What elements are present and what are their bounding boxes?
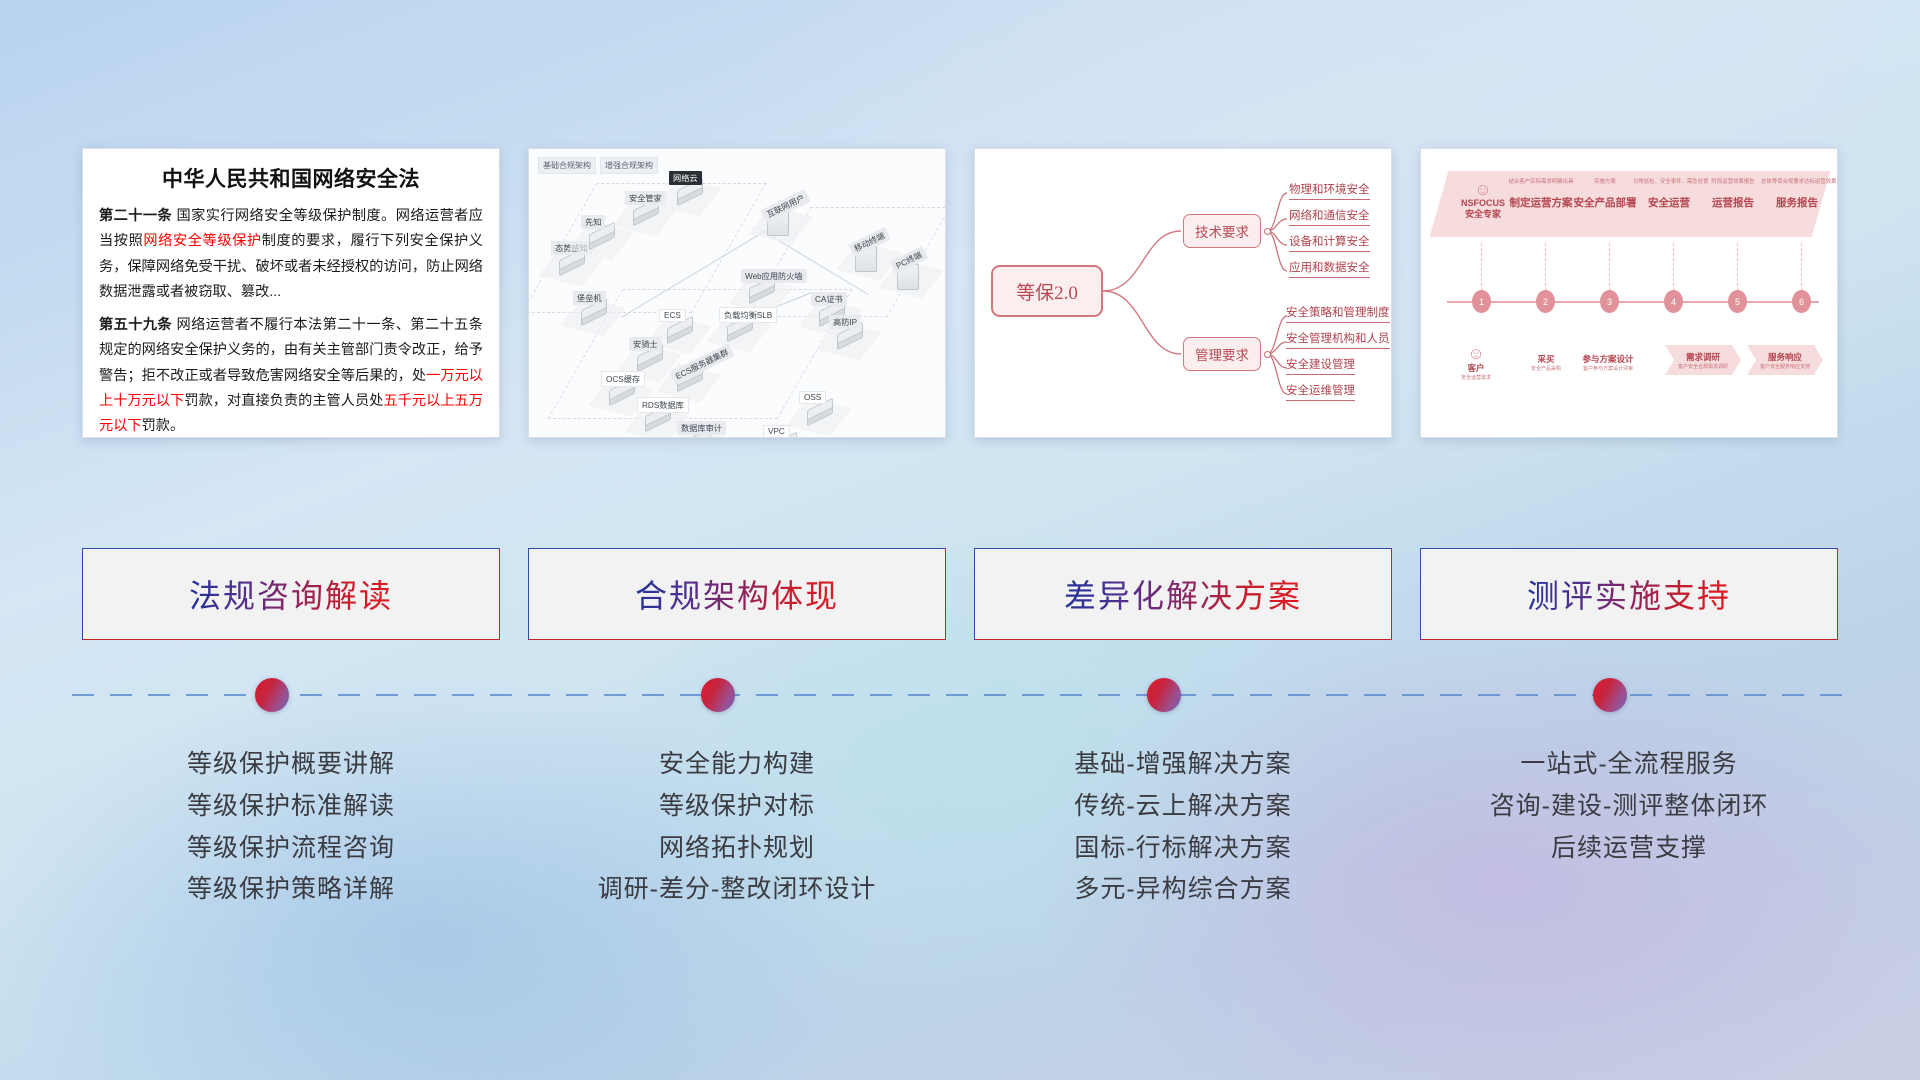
- pillar-item: 等级保护概要讲解: [82, 744, 500, 786]
- architecture-node-icon: [635, 348, 669, 372]
- architecture-node-icon: [835, 326, 869, 350]
- nsfocus-step-connector: [1737, 243, 1738, 291]
- nsfocus-phase-sub: 结合客户实际需求明确出具: [1505, 179, 1577, 186]
- pillar-items-1: 等级保护概要讲解等级保护标准解读等级保护流程咨询等级保护策略详解: [82, 744, 500, 911]
- architecture-node-icon: [805, 402, 839, 426]
- nsfocus-phase-title: 安全运营: [1633, 195, 1705, 210]
- nsfocus-step-5[interactable]: 5: [1728, 290, 1747, 313]
- pillar-item: 国标-行标解决方案: [974, 828, 1392, 870]
- nsfocus-bottom-item-sub: 安全产品采购: [1515, 365, 1577, 372]
- nsfocus-phase: 日常巡检、安全事件、需急处置安全运营: [1633, 179, 1705, 210]
- pillar-item: 咨询-建设-测评整体闭环: [1420, 786, 1838, 828]
- law-text-run: 罚款，对直接负责的主管人员处: [184, 393, 383, 409]
- pillar-item: 传统-云上解决方案: [974, 786, 1392, 828]
- timeline-dashed-line: [72, 694, 1848, 696]
- nsfocus-step-2[interactable]: 2: [1536, 290, 1555, 313]
- nsfocus-chevron-sub: 客户安全合规需求调研: [1678, 363, 1728, 370]
- mindmap-root-node: 等保2.0: [991, 265, 1103, 317]
- architecture-node-label: 高防IP: [829, 315, 861, 329]
- customer-icon: ☺: [1445, 345, 1507, 362]
- nsfocus-step-connector: [1609, 243, 1610, 291]
- timeline-node-3[interactable]: [1147, 678, 1181, 712]
- customer-title: 客户: [1445, 362, 1507, 374]
- nsfocus-bottom-item: 参与方案设计客户参与方案设计评审: [1577, 353, 1639, 372]
- pillar-item: 基础-增强解决方案: [974, 744, 1392, 786]
- mindmap-leaf: 安全策略和管理制度: [1286, 304, 1390, 323]
- timeline-node-4[interactable]: [1593, 678, 1627, 712]
- pillar-heading-label: 合规架构体现: [635, 571, 839, 617]
- mindmap-branch-dot: [1264, 228, 1271, 235]
- pillar-heading-box-3[interactable]: 差异化解决方案: [974, 548, 1392, 640]
- mindmap-leaf: 安全建设管理: [1286, 356, 1355, 375]
- nsfocus-chevron: 服务响应客户安全服务响应支持: [1747, 345, 1823, 375]
- pillar-heading-label: 差异化解决方案: [1064, 571, 1302, 617]
- nsfocus-banner: ☺ NSFOCUS 安全专家 结合客户实际需求明确出具制定运营方案实施方案安全产…: [1430, 171, 1831, 237]
- customer-sub: 安全运营需求: [1445, 374, 1507, 381]
- card-cybersecurity-law: 中华人民共和国网络安全法 第二十一条 国家实行网络安全等级保护制度。网络运营者应…: [82, 148, 500, 438]
- architecture-node-icon: [747, 280, 781, 304]
- pillar-item: 等级保护策略详解: [82, 869, 500, 911]
- architecture-node-label: Web应用防火墙: [741, 269, 807, 283]
- pillar-item: 后续运营支撑: [1420, 828, 1838, 870]
- pillar-headings-row: 法规咨询解读 合规架构体现 差异化解决方案 测评实施支持: [0, 548, 1920, 640]
- nsfocus-bottom-item: 采买安全产品采购: [1515, 353, 1577, 372]
- nsfocus-step-1[interactable]: 1: [1472, 290, 1491, 313]
- card-nsfocus-timeline: ☺ NSFOCUS 安全专家 结合客户实际需求明确出具制定运营方案实施方案安全产…: [1420, 148, 1838, 438]
- mindmap-leaf: 安全运维管理: [1286, 382, 1355, 401]
- architecture-node-label: 网络云: [669, 171, 702, 185]
- mindmap-branch-management: 管理要求: [1183, 337, 1261, 371]
- law-text-highlight: 网络安全等级保护: [143, 233, 261, 249]
- nsfocus-chevron-title: 需求调研: [1686, 351, 1720, 363]
- architecture-node-label: OSS: [799, 391, 826, 404]
- nsfocus-customer-block: ☺ 客户 安全运营需求: [1445, 345, 1507, 381]
- nsfocus-phase: 总体等保合规要求达标运营效果服务报告: [1761, 179, 1833, 210]
- mindmap-branch-dot: [1264, 351, 1271, 358]
- pillar-item: 一站式-全流程服务: [1420, 744, 1838, 786]
- architecture-canvas: 态势感知先知安全管家网络云堡垒机互联网用户移动终端PC终端Web应用防火墙CA证…: [529, 149, 945, 437]
- pillar-item: 等级保护标准解读: [82, 786, 500, 828]
- pillar-items-3: 基础-增强解决方案传统-云上解决方案国标-行标解决方案多元-异构综合方案: [974, 744, 1392, 911]
- law-title: 中华人民共和国网络安全法: [99, 163, 483, 193]
- pillar-item: 安全能力构建: [528, 744, 946, 786]
- mindmap-leaf: 物理和环境安全: [1289, 181, 1370, 200]
- law-paragraph-21: 第二十一条 国家实行网络安全等级保护制度。网络运营者应当按照网络安全等级保护制度…: [99, 204, 483, 305]
- nsfocus-bottom-item-title: 采买: [1515, 353, 1577, 365]
- nsfocus-bottom-item-sub: 客户参与方案设计评审: [1577, 365, 1639, 372]
- architecture-node-label: 负载均衡SLB: [719, 307, 777, 323]
- architecture-node-label: CA证书: [811, 292, 847, 306]
- nsfocus-phase-title: 服务报告: [1761, 195, 1833, 210]
- card-cloud-architecture: 基础合规架构 增强合规架构 态势感知先知安全管家网络云堡垒机互联网用户移动终端P…: [528, 148, 946, 438]
- pillar-heading-box-4[interactable]: 测评实施支持: [1420, 548, 1838, 640]
- pillar-items-2: 安全能力构建等级保护对标网络拓扑规划调研-差分-整改闭环设计: [528, 744, 946, 911]
- mindmap-leaf: 网络和通信安全: [1289, 207, 1370, 226]
- architecture-node-icon: [557, 252, 591, 276]
- pillar-item: 调研-差分-整改闭环设计: [528, 869, 946, 911]
- architecture-node-icon: [675, 182, 709, 206]
- architecture-node-label: OCS缓存: [601, 371, 645, 387]
- nsfocus-phase-title: 制定运营方案: [1505, 195, 1577, 210]
- nsfocus-phase-sub: 总体等保合规要求达标运营效果: [1761, 179, 1833, 186]
- mindmap-leaf: 设备和计算安全: [1289, 233, 1370, 252]
- architecture-node-label: 安骑士: [629, 337, 662, 351]
- nsfocus-phase: 阶段运营效果报告运营报告: [1697, 179, 1769, 210]
- nsfocus-step-connector: [1545, 243, 1546, 291]
- architecture-node-icon: [587, 226, 621, 250]
- architecture-node-label: 堡垒机: [573, 291, 606, 305]
- nsfocus-phase: 结合客户实际需求明确出具制定运营方案: [1505, 179, 1577, 210]
- architecture-node-label: VPC: [763, 425, 790, 438]
- slide-root: 中华人民共和国网络安全法 第二十一条 国家实行网络安全等级保护制度。网络运营者应…: [0, 0, 1920, 1080]
- timeline-node-2[interactable]: [701, 678, 735, 712]
- architecture-node-icon: [665, 320, 699, 344]
- nsfocus-step-connector: [1481, 243, 1482, 291]
- pillar-items-row: 等级保护概要讲解等级保护标准解读等级保护流程咨询等级保护策略详解 安全能力构建等…: [0, 744, 1920, 911]
- pillar-item: 多元-异构综合方案: [974, 869, 1392, 911]
- nsfocus-step-connector: [1673, 243, 1674, 291]
- architecture-node-icon: [579, 302, 613, 326]
- mindmap-leaf: 安全管理机构和人员: [1286, 330, 1390, 349]
- pillar-items-4: 一站式-全流程服务咨询-建设-测评整体闭环后续运营支撑: [1420, 744, 1838, 911]
- pillar-item: 等级保护流程咨询: [82, 828, 500, 870]
- nsfocus-phase: 实施方案安全产品部署: [1569, 179, 1641, 210]
- pillar-item: 网络拓扑规划: [528, 828, 946, 870]
- architecture-node-label: RDS数据库: [637, 397, 689, 413]
- architecture-node-label: ECS: [659, 309, 686, 322]
- nsfocus-step-connector: [1801, 243, 1802, 291]
- card-mindmap-dengbao: 等保2.0 技术要求 物理和环境安全 网络和通信安全 设备和计算安全 应用和数据…: [974, 148, 1392, 438]
- mindmap-branch-technical: 技术要求: [1183, 214, 1261, 248]
- law-article-label: 第二十一条: [99, 208, 172, 224]
- pillar-heading-box-2[interactable]: 合规架构体现: [528, 548, 946, 640]
- pillar-item: 等级保护对标: [528, 786, 946, 828]
- law-text-run: 罚款。: [142, 418, 185, 434]
- law-article-label: 第五十九条: [99, 317, 172, 333]
- nsfocus-bottom-item-title: 参与方案设计: [1577, 353, 1639, 365]
- pillar-heading-label: 测评实施支持: [1527, 571, 1731, 617]
- nsfocus-phase-sub: 阶段运营效果报告: [1697, 179, 1769, 186]
- nsfocus-phase-sub: 日常巡检、安全事件、需急处置: [1633, 179, 1705, 186]
- nsfocus-brand-sub: 安全专家: [1447, 209, 1519, 220]
- nsfocus-chevron: 需求调研客户安全合规需求调研: [1665, 345, 1741, 375]
- nsfocus-step-4[interactable]: 4: [1664, 290, 1683, 313]
- nsfocus-timeline-track: [1447, 301, 1819, 303]
- nsfocus-phase-title: 运营报告: [1697, 195, 1769, 210]
- pillar-heading-label: 法规咨询解读: [189, 571, 393, 617]
- reference-cards-row: 中华人民共和国网络安全法 第二十一条 国家实行网络安全等级保护制度。网络运营者应…: [0, 148, 1920, 438]
- pillar-heading-box-1[interactable]: 法规咨询解读: [82, 548, 500, 640]
- architecture-node-label: 数据库审计: [677, 421, 726, 435]
- nsfocus-phase-title: 安全产品部署: [1569, 195, 1641, 210]
- nsfocus-chevron-title: 服务响应: [1768, 351, 1802, 363]
- nsfocus-chevron-sub: 客户安全服务响应支持: [1760, 363, 1810, 370]
- mindmap-leaf: 应用和数据安全: [1289, 259, 1370, 278]
- timeline-node-1[interactable]: [255, 678, 289, 712]
- architecture-node-label: 先知: [581, 215, 605, 229]
- nsfocus-phase-sub: 实施方案: [1569, 179, 1641, 186]
- nsfocus-step-3[interactable]: 3: [1600, 290, 1619, 313]
- nsfocus-step-6[interactable]: 6: [1792, 290, 1811, 313]
- law-paragraph-59: 第五十九条 网络运营者不履行本法第二十一条、第二十五条规定的网络安全保护义务的，…: [99, 313, 483, 438]
